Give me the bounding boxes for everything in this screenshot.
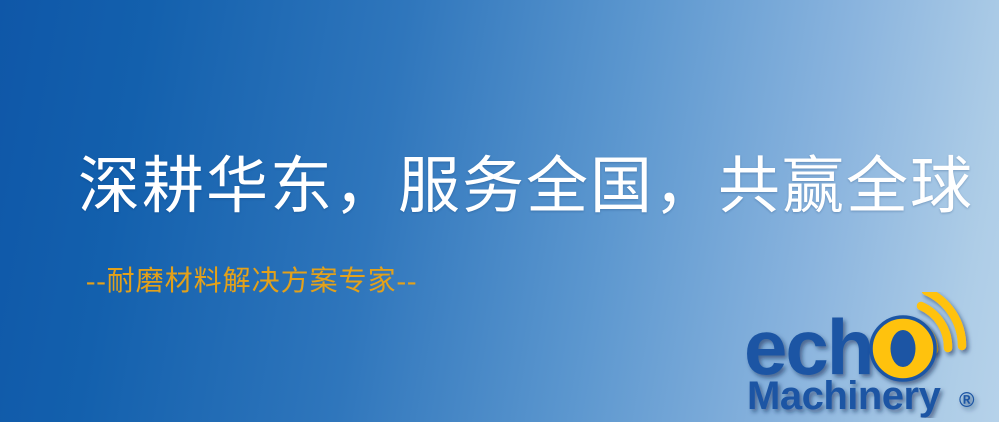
echo-machinery-logo[interactable]: ech Machinery ® bbox=[738, 292, 994, 418]
banner-subtitle: --耐磨材料解决方案专家-- bbox=[86, 265, 417, 299]
hero-banner: 深耕华东，服务全国，共赢全球 --耐磨材料解决方案专家-- ech bbox=[0, 0, 999, 422]
logo-wordmark-o bbox=[871, 317, 935, 380]
logo-registered-mark: ® bbox=[959, 389, 975, 412]
banner-headline: 深耕华东，服务全国，共赢全球 bbox=[78, 150, 974, 224]
logo-wordmark-machinery: Machinery bbox=[747, 374, 942, 418]
